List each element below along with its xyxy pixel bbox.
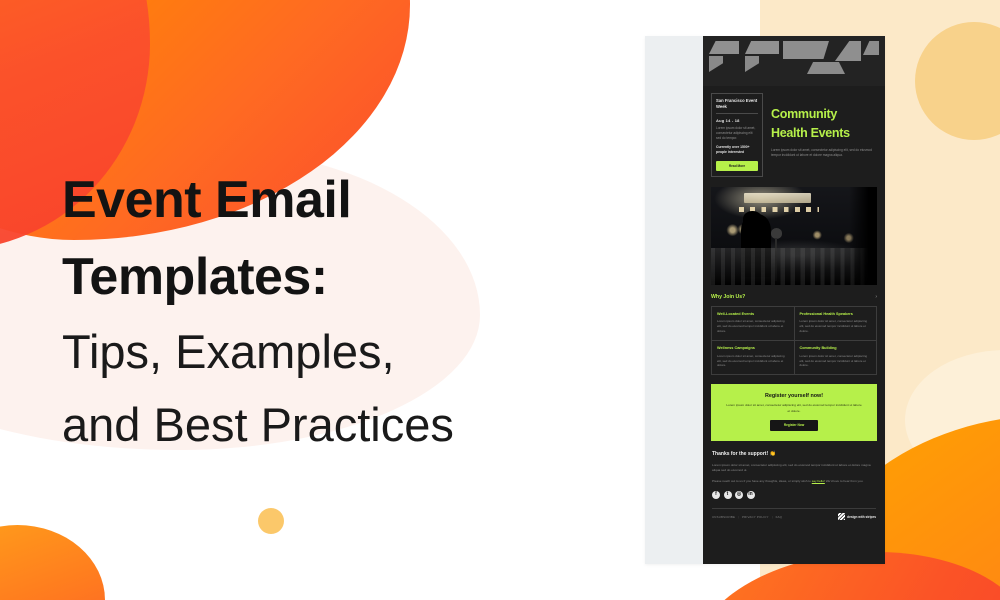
photo-vignette [849, 187, 877, 285]
why-join-card: Professional Health Speakers Lorem ipsum… [795, 307, 878, 341]
pattern-shape-icon [783, 41, 829, 59]
brand-logo: design with stripes [838, 513, 876, 520]
clap-emoji-icon: 👏 [770, 451, 776, 457]
chevron-right-icon[interactable]: › [875, 294, 877, 300]
separator: | [772, 515, 773, 519]
event-name: San Francisco Event Week [716, 98, 758, 109]
headline-light-line-1: Tips, Examples, [62, 316, 622, 389]
footer-title: Thanks for the support! 👏 [712, 451, 876, 457]
page-title: Event Email Templates: Tips, Examples, a… [62, 162, 622, 462]
instagram-icon[interactable]: ◎ [735, 491, 743, 499]
footer-body-2: Please reach out to us if you have any t… [712, 479, 876, 484]
why-join-card: Wellness Campaigns Lorem ipsum dolor sit… [712, 341, 795, 375]
card-title: Wellness Campaigns [717, 346, 789, 350]
pattern-shape-icon [745, 41, 779, 54]
card-title: Well-Located Events [717, 312, 789, 316]
hero-title-line-2: Health Events [771, 126, 877, 141]
twitter-icon[interactable]: t [724, 491, 732, 499]
event-description: Lorem ipsum dolor sit amet, consectetur … [716, 126, 758, 141]
footer-title-text: Thanks for the support! [712, 451, 768, 457]
headline-bold-line-1: Event Email [62, 162, 622, 239]
card-body: Lorem ipsum dolor sit amet, consectetur … [800, 354, 872, 369]
why-join-card: Well-Located Events Lorem ipsum dolor si… [712, 307, 795, 341]
facebook-icon[interactable]: f [712, 491, 720, 499]
card-body: Lorem ipsum dolor sit amet, consectetur … [800, 319, 872, 334]
registration-cta-banner: Register yourself now! Lorem ipsum dolor… [711, 384, 877, 440]
divider [716, 113, 758, 114]
divider [712, 508, 876, 509]
why-join-grid: Well-Located Events Lorem ipsum dolor si… [711, 306, 877, 376]
orange-circle-bottom-left [0, 525, 105, 600]
read-more-button[interactable]: Read More [716, 161, 758, 171]
why-join-section: Why Join Us? › Well-Located Events Lorem… [703, 285, 885, 383]
say-hello-link[interactable]: say hello! [812, 479, 825, 483]
email-footer: Thanks for the support! 👏 Lorem ipsum do… [703, 441, 885, 529]
pattern-shape-icon [709, 41, 739, 54]
email-header-pattern [703, 36, 885, 86]
pattern-shape-icon [835, 41, 861, 61]
separator: | [738, 515, 739, 519]
email-hero-section: San Francisco Event Week Aug 14 - 18 Lor… [703, 86, 885, 187]
card-title: Professional Health Speakers [800, 312, 872, 316]
photo-speaker-head [743, 211, 761, 227]
linkedin-icon[interactable]: in [747, 491, 755, 499]
footer-body-2-pre: Please reach out to us if you have any t… [712, 479, 812, 483]
why-join-header: Why Join Us? › [711, 294, 877, 300]
pattern-shape-icon [745, 56, 759, 72]
poster-canvas: Event Email Templates: Tips, Examples, a… [0, 0, 1000, 600]
hero-subtitle: Lorem ipsum dolor sit amet, consectetur … [771, 148, 877, 159]
event-date: Aug 14 - 18 [716, 118, 758, 123]
brand-name: design with stripes [847, 515, 876, 519]
unsubscribe-link[interactable]: UNSUBSCRIBE [712, 515, 735, 519]
hero-title-line-1: Community [771, 107, 877, 122]
interested-count-note: Currently over 1500+ people interested [716, 145, 758, 156]
cta-body: Lorem ipsum dolor sit amet, consectetur … [725, 403, 863, 414]
event-info-card: San Francisco Event Week Aug 14 - 18 Lor… [711, 93, 763, 177]
headline-light-line-2: and Best Practices [62, 389, 622, 462]
why-join-card: Community Building Lorem ipsum dolor sit… [795, 341, 878, 375]
privacy-policy-link[interactable]: PRIVACY POLICY [742, 515, 769, 519]
pattern-shape-icon [709, 56, 723, 72]
email-template: San Francisco Event Week Aug 14 - 18 Lor… [703, 36, 885, 564]
hero-headline-block: Community Health Events Lorem ipsum dolo… [771, 93, 877, 177]
why-join-title: Why Join Us? [711, 294, 745, 300]
speaker-at-microphone-photo [711, 187, 877, 285]
pattern-shape-icon [807, 62, 845, 74]
headline-bold-line-2: Templates: [62, 239, 622, 316]
footer-body-1: Lorem ipsum dolor sit amet, consectetur … [712, 463, 876, 474]
cta-title: Register yourself now! [725, 393, 863, 399]
faq-link[interactable]: FAQ [776, 515, 782, 519]
register-now-button[interactable]: Register Now [770, 420, 818, 431]
card-body: Lorem ipsum dolor sit amet, consectetur … [717, 354, 789, 369]
pattern-shape-icon [863, 41, 879, 55]
email-mockup-frame: San Francisco Event Week Aug 14 - 18 Lor… [645, 36, 885, 564]
social-links: f t ◎ in [712, 491, 876, 499]
card-body: Lorem ipsum dolor sit amet, consectetur … [717, 319, 789, 334]
yellow-dot [258, 508, 284, 534]
footer-body-2-post: We'd love to hear from you. [825, 479, 864, 483]
footer-bottom-bar: UNSUBSCRIBE | PRIVACY POLICY | FAQ desig… [712, 513, 876, 528]
footer-link-list: UNSUBSCRIBE | PRIVACY POLICY | FAQ [712, 515, 782, 519]
card-title: Community Building [800, 346, 872, 350]
photo-stage-light-panel [744, 193, 810, 204]
stripes-logo-icon [838, 513, 845, 520]
